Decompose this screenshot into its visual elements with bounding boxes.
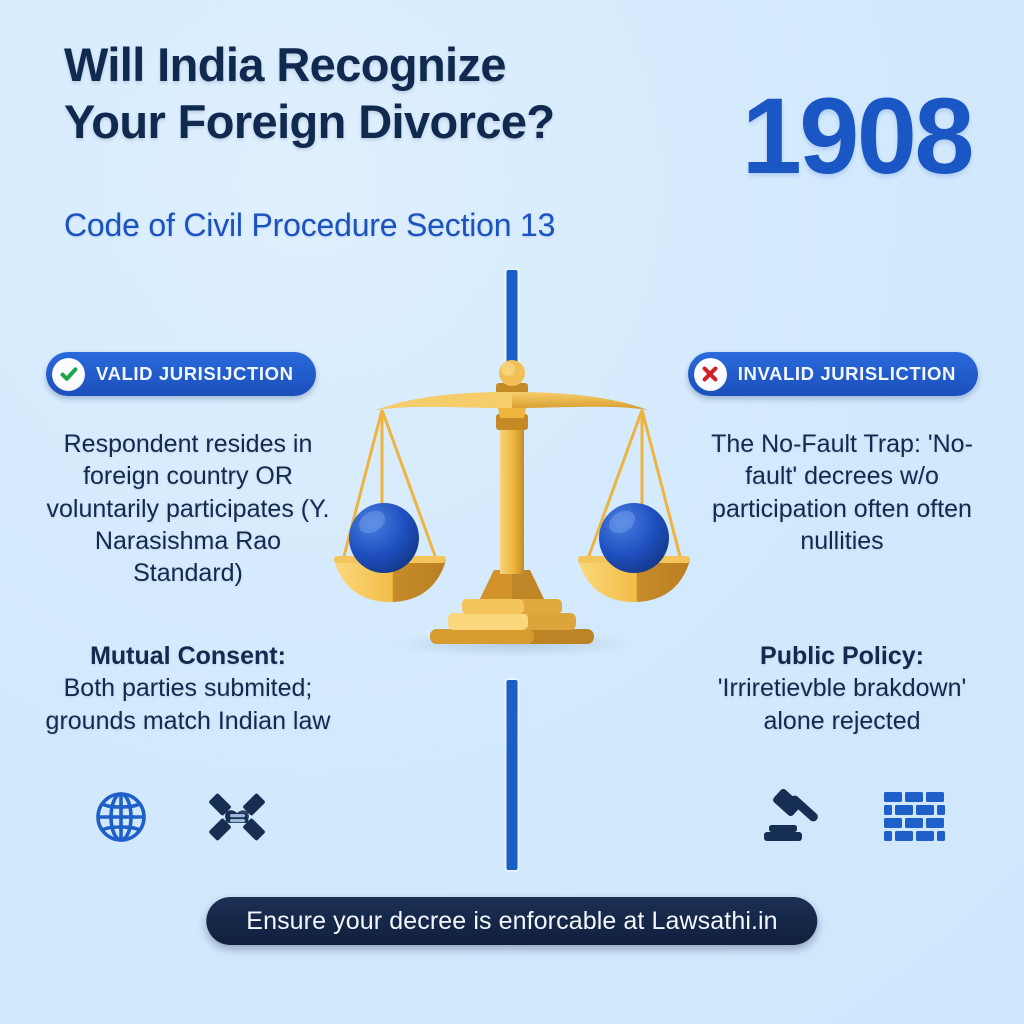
status-badge-invalid[interactable]: INVALID JURISLICTION	[688, 352, 978, 396]
invalid-point-2: Public Policy: 'Irriretievble brakdown' …	[692, 640, 992, 737]
invalid-point-2-lead: Public Policy:	[692, 640, 992, 672]
scales-of-justice-illustration	[334, 352, 690, 677]
page-title: Will India Recognize Your Foreign Divorc…	[64, 36, 664, 151]
infographic-poster: Will India Recognize Your Foreign Divorc…	[0, 0, 1024, 1024]
gavel-icon	[758, 788, 826, 846]
check-icon	[52, 358, 85, 391]
invalid-point-1-text: The No-Fault Trap: 'No-fault' decrees w/…	[692, 428, 992, 557]
globe-icon	[92, 788, 150, 846]
valid-point-2: Mutual Consent: Both parties submited; g…	[38, 640, 338, 737]
valid-point-2-text: Both parties submited; grounds match Ind…	[46, 674, 331, 734]
status-badge-valid[interactable]: VALID JURISIJCTION	[46, 352, 316, 396]
valid-point-2-lead: Mutual Consent:	[38, 640, 338, 672]
badge-label-valid: VALID JURISIJCTION	[96, 363, 294, 385]
footer-cta[interactable]: Ensure your decree is enforcable at Laws…	[206, 897, 817, 945]
headline-line-2: Your Foreign Divorce?	[64, 93, 664, 150]
year-number: 1908	[742, 82, 972, 190]
valid-point-1-text: Respondent resides in foreign country OR…	[38, 428, 338, 589]
invalid-point-2-text: 'Irriretievble brakdown' alone rejected	[718, 674, 967, 734]
valid-point-1: Respondent resides in foreign country OR…	[38, 428, 338, 589]
divider-bottom	[507, 680, 518, 870]
footer-cta-label: Ensure your decree is enforcable at Laws…	[246, 907, 777, 936]
subtitle: Code of Civil Procedure Section 13	[64, 207, 555, 244]
brick-wall-icon	[884, 792, 946, 842]
headline-line-1: Will India Recognize	[64, 38, 506, 91]
valid-icon-row	[92, 788, 266, 846]
valid-point-2-body: Mutual Consent: Both parties submited; g…	[38, 640, 338, 737]
invalid-point-1: The No-Fault Trap: 'No-fault' decrees w/…	[692, 428, 992, 557]
badge-label-invalid: INVALID JURISLICTION	[738, 363, 956, 385]
invalid-point-2-body: Public Policy: 'Irriretievble brakdown' …	[692, 640, 992, 737]
invalid-icon-row	[758, 788, 946, 846]
cross-icon	[694, 358, 727, 391]
handshake-icon	[208, 788, 266, 846]
